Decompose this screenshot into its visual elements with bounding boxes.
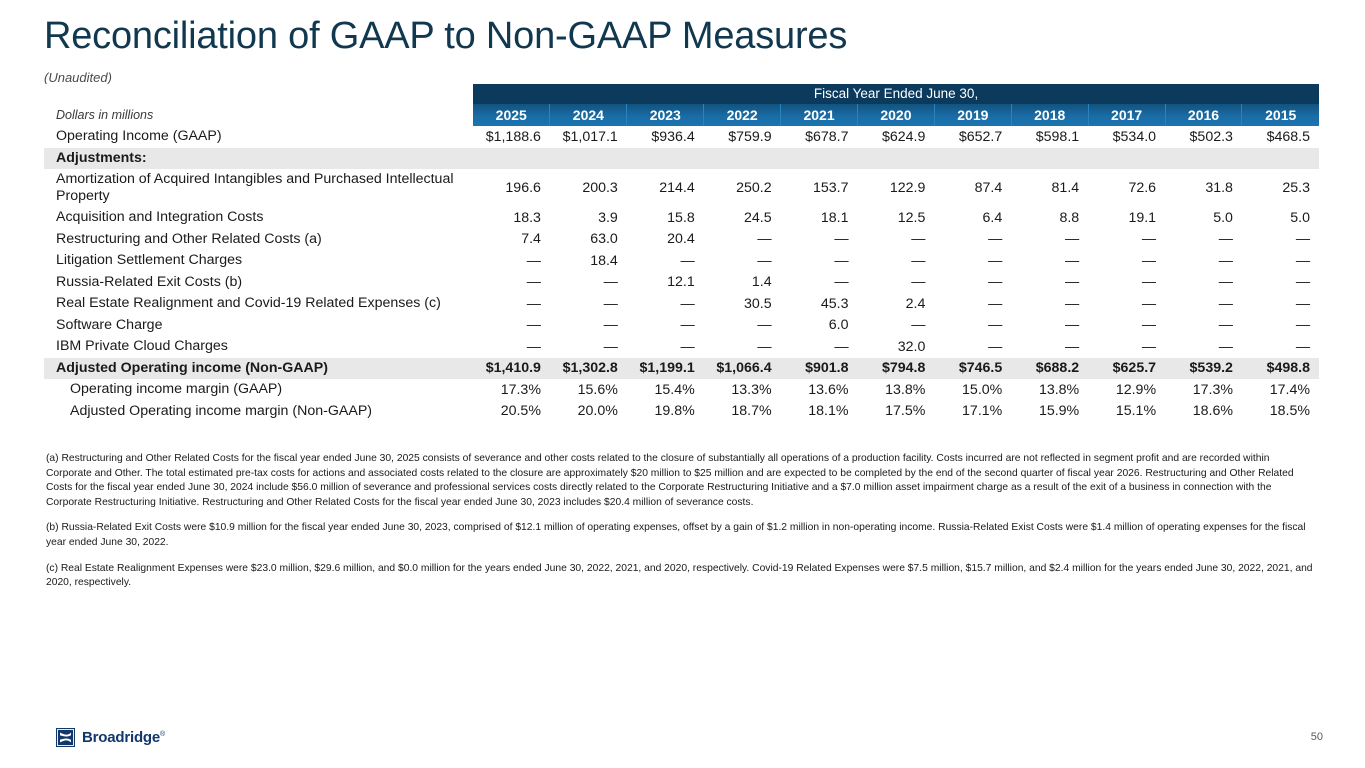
table-row: IBM Private Cloud Charges—————32.0—————: [44, 336, 1319, 358]
row-label: Software Charge: [44, 315, 473, 337]
cell-2022: 13.3%: [704, 379, 781, 401]
broadridge-logo: Broadridge®: [56, 728, 165, 747]
row-label: Amortization of Acquired Intangibles and…: [44, 169, 473, 207]
cell-2024: 3.9: [550, 207, 627, 229]
table-row: Adjusted Operating income (Non-GAAP)$1,4…: [44, 358, 1319, 380]
cell-2025: $1,410.9: [473, 358, 550, 380]
cell-2018: —: [1011, 229, 1088, 251]
column-header-2018: 2018: [1011, 104, 1088, 126]
table-body: Operating Income (GAAP)$1,188.6$1,017.1$…: [44, 126, 1319, 422]
broadridge-mark-icon: [56, 728, 75, 747]
units-cell: [44, 84, 473, 104]
row-label: Litigation Settlement Charges: [44, 250, 473, 272]
cell-2024: 20.0%: [550, 401, 627, 423]
cell-2017: —: [1088, 293, 1165, 315]
cell-2021: 153.7: [781, 169, 858, 207]
table-header: Fiscal Year Ended June 30, Dollars in mi…: [44, 84, 1319, 126]
cell-2019: —: [934, 293, 1011, 315]
cell-2016: —: [1165, 315, 1242, 337]
cell-2016: —: [1165, 293, 1242, 315]
column-header-2024: 2024: [550, 104, 627, 126]
cell-2016: 5.0: [1165, 207, 1242, 229]
cell-2017: —: [1088, 229, 1165, 251]
cell-2020: 17.5%: [858, 401, 935, 423]
cell-2024: —: [550, 315, 627, 337]
cell-2024: $1,017.1: [550, 126, 627, 148]
row-label: Adjustments:: [44, 148, 473, 170]
cell-2019: —: [934, 272, 1011, 294]
table-row: Acquisition and Integration Costs18.33.9…: [44, 207, 1319, 229]
cell-2024: —: [550, 293, 627, 315]
reconciliation-table: Fiscal Year Ended June 30, Dollars in mi…: [44, 84, 1319, 422]
cell-2024: 63.0: [550, 229, 627, 251]
column-header-2023: 2023: [627, 104, 704, 126]
cell-2015: 17.4%: [1242, 379, 1319, 401]
cell-2019: [934, 148, 1011, 170]
table-row: Litigation Settlement Charges—18.4——————…: [44, 250, 1319, 272]
cell-2022: 18.7%: [704, 401, 781, 423]
cell-2023: 20.4: [627, 229, 704, 251]
cell-2023: [627, 148, 704, 170]
fiscal-year-span-header: Fiscal Year Ended June 30,: [473, 84, 1319, 104]
cell-2023: 19.8%: [627, 401, 704, 423]
footnote-1: (a) Restructuring and Other Related Cost…: [46, 452, 1318, 510]
table-row: Russia-Related Exit Costs (b)——12.11.4——…: [44, 272, 1319, 294]
cell-2024: 200.3: [550, 169, 627, 207]
cell-2023: —: [627, 293, 704, 315]
cell-2018: $598.1: [1011, 126, 1088, 148]
cell-2017: —: [1088, 336, 1165, 358]
table-row: Real Estate Realignment and Covid-19 Rel…: [44, 293, 1319, 315]
row-label: Adjusted Operating income (Non-GAAP): [44, 358, 473, 380]
cell-2017: 72.6: [1088, 169, 1165, 207]
column-header-2021: 2021: [781, 104, 858, 126]
cell-2016: —: [1165, 229, 1242, 251]
table-header-year-row: Dollars in millions 20252024202320222021…: [44, 104, 1319, 126]
cell-2018: 15.9%: [1011, 401, 1088, 423]
cell-2023: $936.4: [627, 126, 704, 148]
cell-2025: $1,188.6: [473, 126, 550, 148]
page-title: Reconciliation of GAAP to Non-GAAP Measu…: [44, 15, 847, 58]
cell-2017: —: [1088, 315, 1165, 337]
unaudited-label: (Unaudited): [44, 70, 112, 85]
cell-2015: $498.8: [1242, 358, 1319, 380]
cell-2016: —: [1165, 250, 1242, 272]
cell-2018: —: [1011, 293, 1088, 315]
cell-2025: —: [473, 293, 550, 315]
broadridge-wordmark: Broadridge®: [82, 729, 165, 746]
cell-2021: 18.1%: [781, 401, 858, 423]
cell-2021: —: [781, 250, 858, 272]
row-label: Acquisition and Integration Costs: [44, 207, 473, 229]
cell-2023: $1,199.1: [627, 358, 704, 380]
cell-2018: [1011, 148, 1088, 170]
cell-2021: 45.3: [781, 293, 858, 315]
cell-2016: 31.8: [1165, 169, 1242, 207]
cell-2016: $539.2: [1165, 358, 1242, 380]
cell-2025: 18.3: [473, 207, 550, 229]
cell-2020: —: [858, 272, 935, 294]
column-header-2017: 2017: [1088, 104, 1165, 126]
column-header-2015: 2015: [1242, 104, 1319, 126]
table-header-span-row: Fiscal Year Ended June 30,: [44, 84, 1319, 104]
row-label: Operating income margin (GAAP): [44, 379, 473, 401]
cell-2018: —: [1011, 315, 1088, 337]
cell-2025: —: [473, 315, 550, 337]
cell-2019: —: [934, 229, 1011, 251]
cell-2021: $678.7: [781, 126, 858, 148]
cell-2019: 17.1%: [934, 401, 1011, 423]
cell-2022: $1,066.4: [704, 358, 781, 380]
cell-2020: —: [858, 250, 935, 272]
footnote-2: (b) Russia-Related Exit Costs were $10.9…: [46, 521, 1318, 550]
footnotes: (a) Restructuring and Other Related Cost…: [46, 452, 1318, 602]
row-label: Real Estate Realignment and Covid-19 Rel…: [44, 293, 473, 315]
cell-2015: —: [1242, 293, 1319, 315]
column-header-2022: 2022: [704, 104, 781, 126]
page-number: 50: [1311, 731, 1323, 743]
cell-2024: —: [550, 336, 627, 358]
cell-2020: 12.5: [858, 207, 935, 229]
cell-2015: —: [1242, 336, 1319, 358]
cell-2023: 214.4: [627, 169, 704, 207]
table-row: Adjusted Operating income margin (Non-GA…: [44, 401, 1319, 423]
cell-2015: 5.0: [1242, 207, 1319, 229]
cell-2020: —: [858, 315, 935, 337]
cell-2017: 15.1%: [1088, 401, 1165, 423]
cell-2019: —: [934, 315, 1011, 337]
cell-2018: $688.2: [1011, 358, 1088, 380]
table-row: Adjustments:: [44, 148, 1319, 170]
cell-2022: [704, 148, 781, 170]
cell-2018: 13.8%: [1011, 379, 1088, 401]
cell-2022: 24.5: [704, 207, 781, 229]
cell-2020: 13.8%: [858, 379, 935, 401]
column-header-2016: 2016: [1165, 104, 1242, 126]
row-label: Adjusted Operating income margin (Non-GA…: [44, 401, 473, 423]
cell-2021: $901.8: [781, 358, 858, 380]
cell-2020: 122.9: [858, 169, 935, 207]
cell-2020: $624.9: [858, 126, 935, 148]
cell-2024: 15.6%: [550, 379, 627, 401]
cell-2016: —: [1165, 336, 1242, 358]
logo-trademark: ®: [160, 731, 165, 738]
cell-2024: 18.4: [550, 250, 627, 272]
row-label: Russia-Related Exit Costs (b): [44, 272, 473, 294]
cell-2020: 2.4: [858, 293, 935, 315]
cell-2020: [858, 148, 935, 170]
row-label: IBM Private Cloud Charges: [44, 336, 473, 358]
cell-2021: 13.6%: [781, 379, 858, 401]
cell-2020: 32.0: [858, 336, 935, 358]
row-label: Restructuring and Other Related Costs (a…: [44, 229, 473, 251]
cell-2019: 6.4: [934, 207, 1011, 229]
cell-2023: 15.4%: [627, 379, 704, 401]
cell-2017: [1088, 148, 1165, 170]
cell-2023: —: [627, 315, 704, 337]
cell-2017: 12.9%: [1088, 379, 1165, 401]
cell-2016: 18.6%: [1165, 401, 1242, 423]
cell-2019: 87.4: [934, 169, 1011, 207]
cell-2017: —: [1088, 272, 1165, 294]
cell-2025: 7.4: [473, 229, 550, 251]
cell-2023: 15.8: [627, 207, 704, 229]
cell-2020: —: [858, 229, 935, 251]
cell-2015: [1242, 148, 1319, 170]
cell-2021: [781, 148, 858, 170]
cell-2018: —: [1011, 272, 1088, 294]
cell-2020: $794.8: [858, 358, 935, 380]
cell-2021: 18.1: [781, 207, 858, 229]
cell-2019: $746.5: [934, 358, 1011, 380]
cell-2023: —: [627, 250, 704, 272]
cell-2017: $534.0: [1088, 126, 1165, 148]
cell-2022: —: [704, 250, 781, 272]
cell-2017: —: [1088, 250, 1165, 272]
cell-2019: $652.7: [934, 126, 1011, 148]
cell-2024: —: [550, 272, 627, 294]
column-header-2025: 2025: [473, 104, 550, 126]
table-row: Operating Income (GAAP)$1,188.6$1,017.1$…: [44, 126, 1319, 148]
cell-2025: —: [473, 272, 550, 294]
column-header-2019: 2019: [934, 104, 1011, 126]
table-row: Amortization of Acquired Intangibles and…: [44, 169, 1319, 207]
cell-2024: [550, 148, 627, 170]
cell-2018: 81.4: [1011, 169, 1088, 207]
cell-2022: 250.2: [704, 169, 781, 207]
cell-2023: —: [627, 336, 704, 358]
cell-2018: —: [1011, 336, 1088, 358]
cell-2022: 30.5: [704, 293, 781, 315]
cell-2015: —: [1242, 272, 1319, 294]
column-header-2020: 2020: [858, 104, 935, 126]
table-row: Operating income margin (GAAP)17.3%15.6%…: [44, 379, 1319, 401]
cell-2015: 25.3: [1242, 169, 1319, 207]
cell-2022: $759.9: [704, 126, 781, 148]
cell-2015: —: [1242, 250, 1319, 272]
cell-2021: —: [781, 229, 858, 251]
cell-2015: —: [1242, 315, 1319, 337]
cell-2016: —: [1165, 272, 1242, 294]
cell-2021: —: [781, 336, 858, 358]
cell-2022: —: [704, 315, 781, 337]
cell-2022: —: [704, 336, 781, 358]
cell-2015: $468.5: [1242, 126, 1319, 148]
logo-text-label: Broadridge: [82, 729, 160, 746]
cell-2019: —: [934, 250, 1011, 272]
cell-2025: 17.3%: [473, 379, 550, 401]
cell-2025: —: [473, 336, 550, 358]
cell-2021: 6.0: [781, 315, 858, 337]
cell-2025: [473, 148, 550, 170]
cell-2024: $1,302.8: [550, 358, 627, 380]
row-label: Operating Income (GAAP): [44, 126, 473, 148]
cell-2025: —: [473, 250, 550, 272]
cell-2025: 20.5%: [473, 401, 550, 423]
cell-2022: —: [704, 229, 781, 251]
cell-2017: 19.1: [1088, 207, 1165, 229]
cell-2016: [1165, 148, 1242, 170]
footnote-3: (c) Real Estate Realignment Expenses wer…: [46, 562, 1318, 591]
cell-2023: 12.1: [627, 272, 704, 294]
cell-2015: 18.5%: [1242, 401, 1319, 423]
cell-2017: $625.7: [1088, 358, 1165, 380]
cell-2016: $502.3: [1165, 126, 1242, 148]
table-row: Software Charge————6.0——————: [44, 315, 1319, 337]
cell-2019: —: [934, 336, 1011, 358]
reconciliation-table-container: Fiscal Year Ended June 30, Dollars in mi…: [44, 84, 1319, 422]
units-label: Dollars in millions: [44, 104, 473, 126]
cell-2015: —: [1242, 229, 1319, 251]
cell-2018: 8.8: [1011, 207, 1088, 229]
cell-2022: 1.4: [704, 272, 781, 294]
cell-2018: —: [1011, 250, 1088, 272]
cell-2019: 15.0%: [934, 379, 1011, 401]
cell-2021: —: [781, 272, 858, 294]
cell-2016: 17.3%: [1165, 379, 1242, 401]
cell-2025: 196.6: [473, 169, 550, 207]
table-row: Restructuring and Other Related Costs (a…: [44, 229, 1319, 251]
